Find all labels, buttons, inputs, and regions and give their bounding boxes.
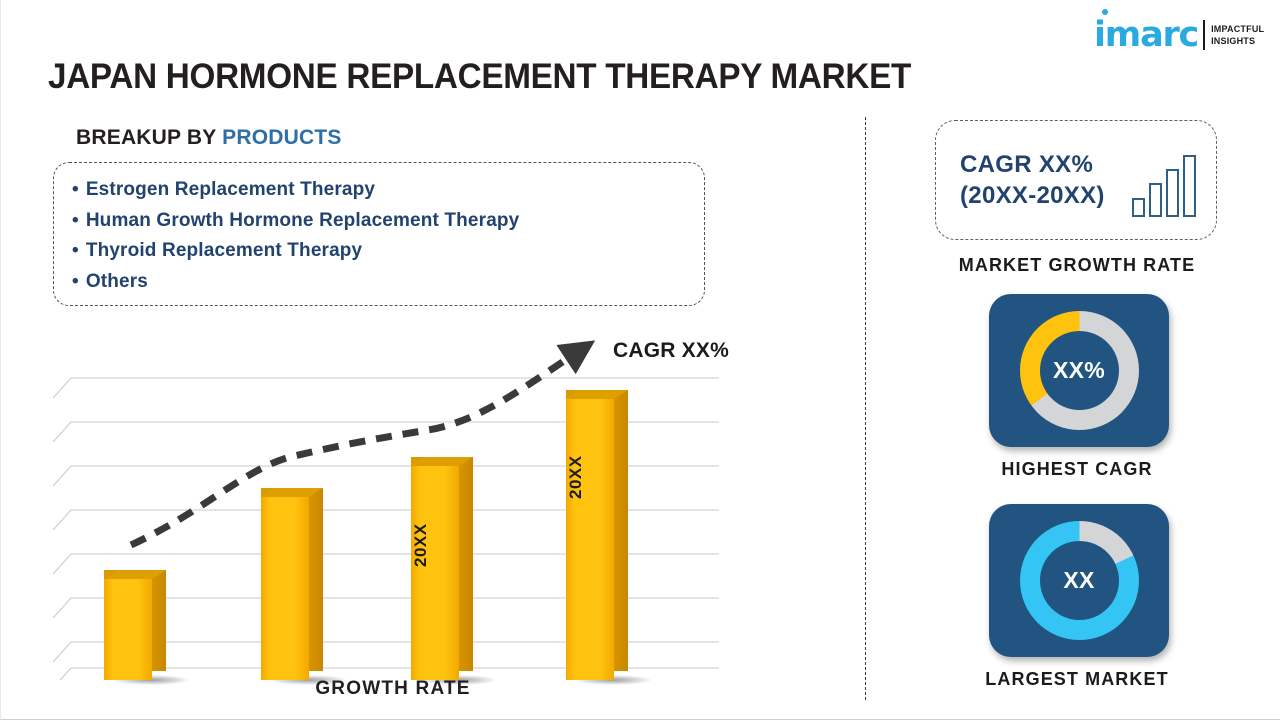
highest-cagr-label: HIGHEST CAGR	[877, 459, 1277, 480]
largest-market-label: LARGEST MARKET	[877, 669, 1277, 690]
list-item: Thyroid Replacement Therapy	[72, 236, 704, 267]
logo-dot-icon	[1102, 9, 1108, 15]
breakup-list-box: Estrogen Replacement Therapy Human Growt…	[53, 162, 705, 306]
highest-cagr-tile: XX%	[989, 294, 1169, 447]
logo-tagline-line2: INSIGHTS	[1211, 35, 1264, 47]
highest-cagr-value: XX%	[1053, 357, 1105, 384]
page-title: JAPAN HORMONE REPLACEMENT THERAPY MARKET	[48, 57, 911, 97]
breakup-heading-prefix: BREAKUP BY	[76, 126, 222, 149]
list-item: Others	[72, 267, 704, 298]
list-item: Estrogen Replacement Therapy	[72, 175, 704, 206]
cagr-period: (20XX-20XX)	[960, 180, 1105, 211]
logo-tagline: IMPACTFUL INSIGHTS	[1211, 23, 1264, 47]
chart-x-axis-label: GROWTH RATE	[53, 678, 733, 700]
logo-wordmark-text: imarc	[1094, 15, 1198, 55]
cagr-value: CAGR XX%	[960, 149, 1105, 180]
highest-cagr-donut: XX%	[1020, 311, 1139, 430]
section-divider	[865, 117, 866, 700]
cagr-annotation: CAGR XX%	[613, 339, 729, 363]
cagr-text: CAGR XX% (20XX-20XX)	[960, 149, 1105, 211]
logo-divider	[1203, 20, 1205, 50]
largest-market-tile: XX	[989, 504, 1169, 657]
breakup-heading-accent: PRODUCTS	[222, 126, 341, 149]
infographic-page: imarc IMPACTFUL INSIGHTS JAPAN HORMONE R…	[0, 0, 1280, 720]
largest-market-value: XX	[1063, 567, 1094, 594]
ascending-bars-icon	[1132, 155, 1196, 217]
list-item: Human Growth Hormone Replacement Therapy	[72, 206, 704, 237]
logo-wordmark: imarc	[1094, 18, 1198, 53]
imarc-logo: imarc IMPACTFUL INSIGHTS	[1094, 14, 1266, 56]
logo-tagline-line1: IMPACTFUL	[1211, 23, 1264, 35]
market-growth-rate-label: MARKET GROWTH RATE	[877, 255, 1277, 276]
market-growth-rate-card: CAGR XX% (20XX-20XX)	[935, 120, 1217, 240]
largest-market-donut: XX	[1020, 521, 1139, 640]
trend-arrow	[53, 330, 753, 680]
growth-rate-bar-chart: 20XX 20XX CAGR XX% GROWTH RATE	[53, 330, 753, 700]
breakup-heading: BREAKUP BY PRODUCTS	[76, 126, 342, 150]
breakup-list: Estrogen Replacement Therapy Human Growt…	[72, 175, 704, 297]
